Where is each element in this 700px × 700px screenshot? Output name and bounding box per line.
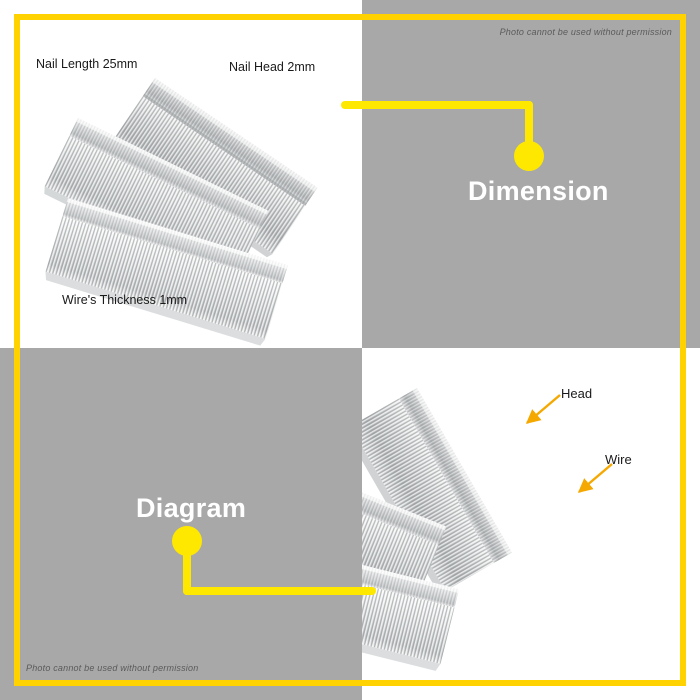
- dimension-connector-dot: [514, 141, 544, 171]
- dimension-label-panel: [362, 0, 700, 348]
- note-nail-head: Nail Head 2mm: [229, 60, 315, 74]
- nail-bundle-photo-diagram: [362, 358, 542, 678]
- section-title-dimension: Dimension: [468, 176, 609, 207]
- diagram-photo-panel: [362, 348, 700, 700]
- callout-label-wire: Wire: [605, 452, 632, 467]
- diagram-label-panel: [0, 348, 362, 700]
- watermark-top-right: Photo cannot be used without permission: [500, 27, 672, 37]
- diagram-connector-dot: [172, 526, 202, 556]
- diagram-connector-horizontal: [183, 587, 376, 595]
- note-nail-length: Nail Length 25mm: [36, 57, 137, 71]
- watermark-bottom-left: Photo cannot be used without permission: [26, 663, 198, 673]
- note-wire-thickness: Wire's Thickness 1mm: [62, 293, 187, 307]
- dimension-connector-horizontal: [341, 101, 533, 109]
- callout-label-head: Head: [561, 386, 592, 401]
- nail-bundle-photo-dimension: [60, 70, 360, 320]
- section-title-diagram: Diagram: [136, 493, 246, 524]
- product-infographic: Nail Length 25mm Nail Head 2mm Wire's Th…: [0, 0, 700, 700]
- dimension-photo-panel: Nail Length 25mm Nail Head 2mm Wire's Th…: [0, 0, 362, 348]
